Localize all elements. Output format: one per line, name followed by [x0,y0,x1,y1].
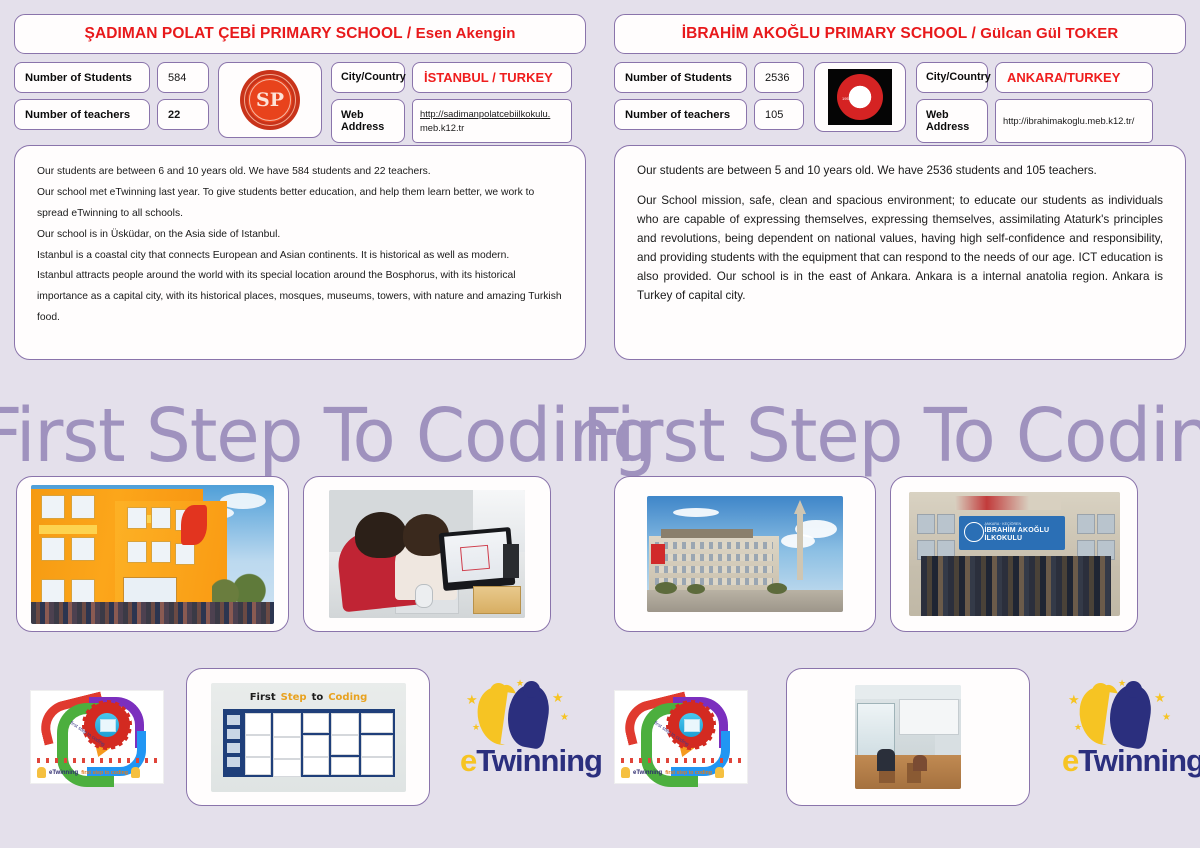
board-word-4: Coding [328,692,367,703]
brochure-page: ŞADIMAN POLAT ÇEBİ PRIMARY SCHOOL / Esen… [0,0,1200,848]
teacher-name-left: Esen Akengin [416,25,516,42]
sadiman-polat-cebi-school-crest-icon: SP [240,70,300,130]
city-label-left: City/Country [331,62,405,93]
classroom-photo [855,685,961,789]
wordmark-left: First Step To Coding [0,398,618,474]
web-row-left: WebAddress http://sadimanpolatcebiilkoku… [331,99,572,143]
ibrahim-akoglu-school-crest-icon: 人1953 [828,69,892,125]
city-row-right: City/Country ANKARA/TURKEY [916,62,1153,93]
etwinning-wordmark: eTwinning [1062,743,1200,779]
students-row-right: Number of Students 2536 [614,62,804,93]
teacher-name-right: Gülcan Gül TOKER [980,25,1118,42]
desc-right-1: Our School mission, safe, clean and spac… [637,192,1163,306]
web-row-right: WebAddress http://ibrahimakoglu.meb.k12.… [916,99,1153,143]
counts-column-left: Number of Students 584 Number of teacher… [14,62,209,130]
web-address-left[interactable]: http://sadimanpolatcebiilkokulu. meb.k12… [412,99,572,143]
students-value-right: 2536 [754,62,804,93]
city-label-right: City/Country [916,62,988,93]
school-title-left: ŞADIMAN POLAT ÇEBİ PRIMARY SCHOOL / Esen… [85,25,516,43]
location-column-right: City/Country ANKARA/TURKEY WebAddress ht… [916,62,1153,143]
teachers-row-left: Number of teachers 22 [14,99,209,130]
school-title-bar-right: İBRAHİM AKOĞLU PRIMARY SCHOOL / Gülcan G… [614,14,1186,54]
school-title-bar-left: ŞADIMAN POLAT ÇEBİ PRIMARY SCHOOL / Esen… [14,14,586,54]
first-step-to-coding-project-logo: first step to coding eTwinning first ste… [614,690,748,784]
desc-left-1: Our school met eTwinning last year. To g… [37,183,563,225]
desc-left-4: Istanbul attracts people around the worl… [37,266,563,329]
city-row-left: City/Country İSTANBUL / TURKEY [331,62,572,93]
project-logo-tagline: first step to coding [81,770,128,776]
photo-row-left [16,476,551,632]
panel-right: İBRAHİM AKOĞLU PRIMARY SCHOOL / Gülcan G… [600,0,1200,848]
ankara-school-building-card-right [614,476,876,632]
desc-left-0: Our students are between 6 and 10 years … [37,162,563,183]
description-box-left: Our students are between 6 and 10 years … [14,145,586,360]
school-title-right: İBRAHİM AKOĞLU PRIMARY SCHOOL / Gülcan G… [682,25,1119,43]
students-label-right: Number of Students [614,62,747,93]
info-strip-right: Number of Students 2536 Number of teache… [614,62,1186,136]
school-crest-tile-left: SP [218,62,322,138]
web-address-right-line1: http://ibrahimakoglu.meb.k12.tr/ [1003,114,1134,128]
web-address-left-line1: http://sadimanpolatcebiilkokulu. [420,108,550,119]
wordmark-right: First Step To Coding [582,398,1200,474]
web-label-left: WebAddress [331,99,405,143]
classroom-photo-card-right [786,668,1030,806]
counts-column-right: Number of Students 2536 Number of teache… [614,62,804,130]
school-crest-tile-right: 人1953 [814,62,906,132]
web-label-right: WebAddress [916,99,988,143]
school-name-right: İBRAHİM AKOĞLU PRIMARY SCHOOL [682,25,967,42]
teachers-label-right: Number of teachers [614,99,747,130]
ankara-school-building-photo [647,496,843,612]
teachers-label-left: Number of teachers [14,99,150,130]
etwinning-logo: ★ ★ ★ ★ ★ eTwinning [1062,681,1200,793]
info-strip-left: Number of Students 584 Number of teacher… [14,62,586,136]
staff-group-photo-card-right: ANKARA · KEÇİÖREN İBRAHİM AKOĞLU İLKOKUL… [890,476,1138,632]
students-laptop-photo [329,490,525,618]
school-name-left: ŞADIMAN POLAT ÇEBİ PRIMARY SCHOOL [85,25,403,42]
students-value-left: 584 [157,62,209,93]
teachers-row-right: Number of teachers 105 [614,99,804,130]
students-laptop-photo-card-left [303,476,551,632]
project-logo-tagline: first step to coding [665,770,712,776]
project-logo-brand: eTwinning [633,770,662,776]
teachers-value-right: 105 [754,99,804,130]
teachers-value-left: 22 [157,99,209,130]
web-address-left-line2: meb.k12.tr [420,122,464,133]
location-column-left: City/Country İSTANBUL / TURKEY WebAddres… [331,62,572,143]
panel-left: ŞADIMAN POLAT ÇEBİ PRIMARY SCHOOL / Esen… [0,0,600,848]
school-building-photo [31,485,274,624]
etwinning-logo: ★ ★ ★ ★ ★ eTwinning [460,681,600,793]
school-building-photo-card-left [16,476,289,632]
desc-left-3: Istanbul is a coastal city that connects… [37,246,563,267]
board-word-2: Step [281,692,307,703]
classroom-display-board-photo: First Step to Coding [211,683,406,792]
project-logo-brand: eTwinning [49,770,78,776]
school-sign-line2: İLKOKULU [985,535,1065,544]
bottom-row-left: first step to coding eTwinning first ste… [30,668,600,806]
etwinning-wordmark: eTwinning [460,743,600,779]
desc-left-2: Our school is in Üsküdar, on the Asia si… [37,225,563,246]
photo-row-right: ANKARA · KEÇİÖREN İBRAHİM AKOĞLU İLKOKUL… [614,476,1138,632]
bottom-row-right: first step to coding eTwinning first ste… [614,668,1200,806]
first-step-to-coding-project-logo: first step to coding eTwinning first ste… [30,690,164,784]
web-address-right[interactable]: http://ibrahimakoglu.meb.k12.tr/ [995,99,1153,143]
classroom-display-board-card-left: First Step to Coding [186,668,430,806]
board-word-1: First [250,692,276,703]
students-label-left: Number of Students [14,62,150,93]
students-row-left: Number of Students 584 [14,62,209,93]
city-value-right: ANKARA/TURKEY [995,62,1153,93]
desc-right-0: Our students are between 5 and 10 years … [637,162,1163,181]
staff-group-photo: ANKARA · KEÇİÖREN İBRAHİM AKOĞLU İLKOKUL… [909,492,1120,616]
board-word-3: to [312,692,324,703]
description-box-right: Our students are between 5 and 10 years … [614,145,1186,360]
city-value-left: İSTANBUL / TURKEY [412,62,572,93]
